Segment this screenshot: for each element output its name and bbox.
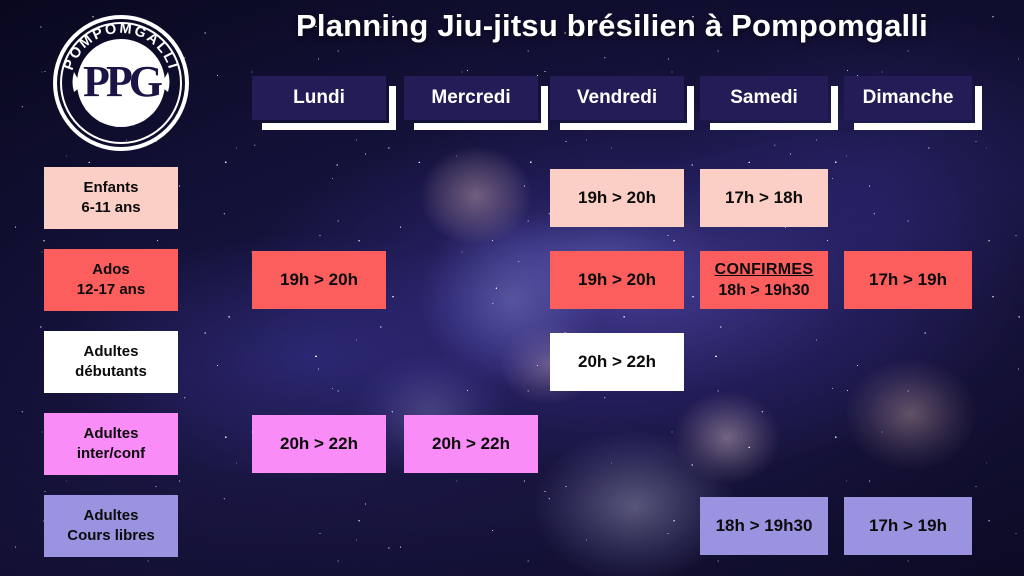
day-header-mercredi: Mercredi — [404, 76, 538, 120]
row-label-line1: Adultes — [83, 342, 138, 362]
row-label-line1: Adultes — [83, 424, 138, 444]
slot-adultes-debutants-vendredi[interactable]: 20h > 22h — [550, 333, 684, 391]
slot-time: 20h > 22h — [578, 351, 656, 372]
row-label-adultes-inter: Adultes inter/conf — [44, 413, 178, 475]
slot-time: 17h > 19h — [869, 515, 947, 536]
day-header-dimanche: Dimanche — [844, 76, 972, 120]
row-label-line2: débutants — [75, 362, 147, 382]
slot-ados-dimanche[interactable]: 17h > 19h — [844, 251, 972, 309]
slot-time: 20h > 22h — [432, 433, 510, 454]
slot-time: 17h > 19h — [869, 269, 947, 290]
slot-ados-lundi[interactable]: 19h > 20h — [252, 251, 386, 309]
row-label-line1: Enfants — [83, 178, 138, 198]
page-title: Planning Jiu-jitsu brésilien à Pompomgal… — [232, 4, 992, 50]
day-header-samedi: Samedi — [700, 76, 828, 120]
row-label-adultes-debutants: Adultes débutants — [44, 331, 178, 393]
slot-adultes-libres-dimanche[interactable]: 17h > 19h — [844, 497, 972, 555]
row-label-adultes-libres: Adultes Cours libres — [44, 495, 178, 557]
day-header-vendredi: Vendredi — [550, 76, 684, 120]
slot-time: 19h > 20h — [578, 269, 656, 290]
slot-ados-vendredi[interactable]: 19h > 20h — [550, 251, 684, 309]
slot-time: 19h > 20h — [280, 269, 358, 290]
svg-text:PPG: PPG — [83, 57, 163, 106]
row-label-line2: 12-17 ans — [77, 280, 145, 300]
slot-ados-samedi[interactable]: CONFIRMES 18h > 19h30 — [700, 251, 828, 309]
slot-tag: CONFIRMES — [715, 260, 814, 281]
slot-time: 18h > 19h30 — [716, 515, 813, 536]
slot-enfants-vendredi[interactable]: 19h > 20h — [550, 169, 684, 227]
row-label-enfants: Enfants 6-11 ans — [44, 167, 178, 229]
slot-time: 17h > 18h — [725, 187, 803, 208]
day-header-label: Mercredi — [404, 76, 538, 120]
schedule-poster: POMPOMGALLI JIU-JITSU PPG Planning Jiu-j… — [0, 0, 1024, 576]
row-label-line1: Adultes — [83, 506, 138, 526]
club-logo: POMPOMGALLI JIU-JITSU PPG — [52, 14, 190, 152]
slot-adultes-inter-lundi[interactable]: 20h > 22h — [252, 415, 386, 473]
row-label-line2: inter/conf — [77, 444, 145, 464]
row-label-ados: Ados 12-17 ans — [44, 249, 178, 311]
slot-enfants-samedi[interactable]: 17h > 18h — [700, 169, 828, 227]
day-header-label: Dimanche — [844, 76, 972, 120]
row-label-line1: Ados — [92, 260, 130, 280]
day-header-lundi: Lundi — [252, 76, 386, 120]
row-label-line2: Cours libres — [67, 526, 155, 546]
slot-adultes-inter-mercredi[interactable]: 20h > 22h — [404, 415, 538, 473]
day-header-label: Samedi — [700, 76, 828, 120]
day-header-label: Vendredi — [550, 76, 684, 120]
slot-time: 18h > 19h30 — [718, 281, 809, 301]
day-header-label: Lundi — [252, 76, 386, 120]
slot-time: 20h > 22h — [280, 433, 358, 454]
slot-adultes-libres-samedi[interactable]: 18h > 19h30 — [700, 497, 828, 555]
slot-time: 19h > 20h — [578, 187, 656, 208]
row-label-line2: 6-11 ans — [81, 198, 140, 218]
